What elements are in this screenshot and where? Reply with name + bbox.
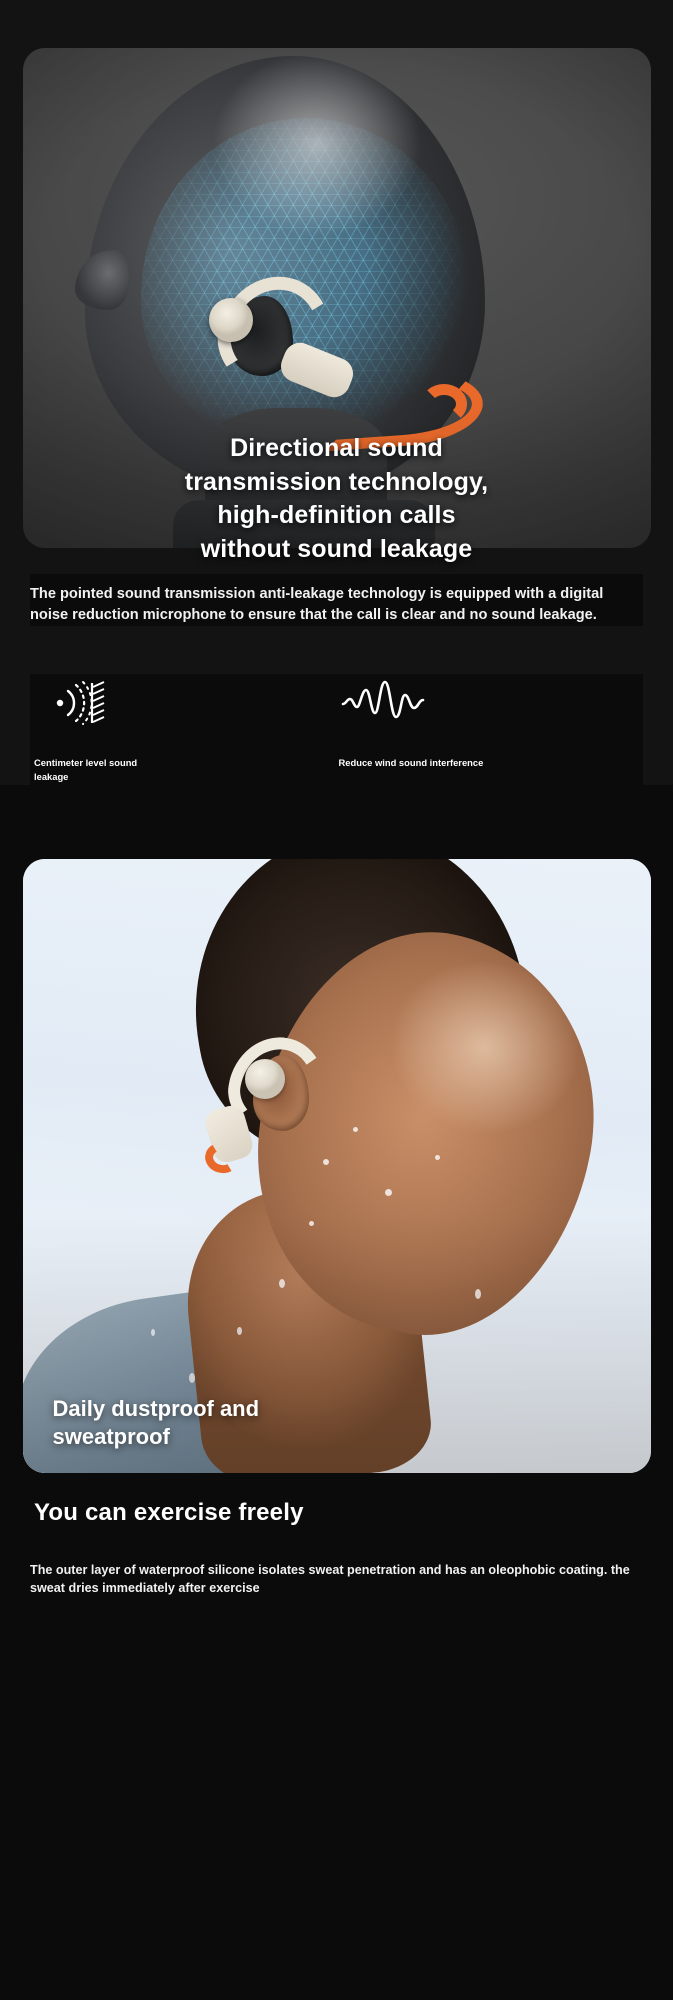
feature-label-centimeter: Centimeter level sound leakage — [30, 756, 160, 784]
photo-earphone-bud — [245, 1059, 285, 1099]
photo-caption-line-1: Daily dustproof and — [53, 1395, 260, 1423]
sweat-droplet — [475, 1289, 481, 1299]
hero-heading-line-2: transmission technology, — [0, 466, 673, 500]
bottom-heading: You can exercise freely — [34, 1499, 673, 1527]
sweat-droplet — [279, 1279, 285, 1288]
sweat-droplet — [385, 1189, 392, 1196]
sweat-droplet — [309, 1221, 314, 1226]
lifestyle-photo: Daily dustproof and sweatproof — [23, 859, 651, 1473]
photo-caption: Daily dustproof and sweatproof — [53, 1395, 260, 1450]
mannequin-nose — [75, 250, 129, 310]
photo-caption-line-2: sweatproof — [53, 1423, 260, 1451]
sound-leakage-blocked-icon — [30, 674, 337, 732]
hero-heading: Directional sound transmission technolog… — [0, 432, 673, 566]
sweat-droplet — [323, 1159, 329, 1165]
hero-heading-line-3: high-definition calls — [0, 499, 673, 533]
sweat-droplet — [435, 1155, 440, 1160]
bottom-description: The outer layer of waterproof silicone i… — [30, 1561, 643, 1598]
product-detail-page: Directional sound transmission technolog… — [0, 0, 673, 2000]
feature-label-wind: Reduce wind sound interference — [337, 756, 644, 770]
feature-centimeter-level-sound-leakage: Centimeter level sound leakage — [30, 674, 337, 784]
feature-label-line-2: leakage — [34, 770, 160, 784]
section-dustproof-sweatproof: Daily dustproof and sweatproof You can e… — [0, 859, 673, 1598]
earphone-driver-bud — [209, 298, 253, 342]
sweat-droplet — [237, 1327, 242, 1335]
sweat-droplet — [353, 1127, 358, 1132]
earphone-cable-tail — [421, 384, 467, 424]
section-divider — [0, 785, 673, 859]
section-directional-sound: Directional sound transmission technolog… — [0, 0, 673, 859]
sweat-droplet — [189, 1373, 195, 1383]
hero-description: The pointed sound transmission anti-leak… — [30, 574, 643, 626]
waveform-icon — [337, 674, 644, 732]
hero-heading-line-4: without sound leakage — [0, 533, 673, 567]
sweat-droplet — [151, 1329, 155, 1336]
feature-label-line-1: Centimeter level sound — [34, 756, 160, 770]
hero-heading-line-1: Directional sound — [0, 432, 673, 466]
feature-row: Centimeter level sound leakage Reduce wi… — [30, 674, 643, 784]
feature-label-line-1: Reduce wind sound interference — [339, 756, 644, 770]
feature-reduce-wind-sound-interference: Reduce wind sound interference — [337, 674, 644, 784]
